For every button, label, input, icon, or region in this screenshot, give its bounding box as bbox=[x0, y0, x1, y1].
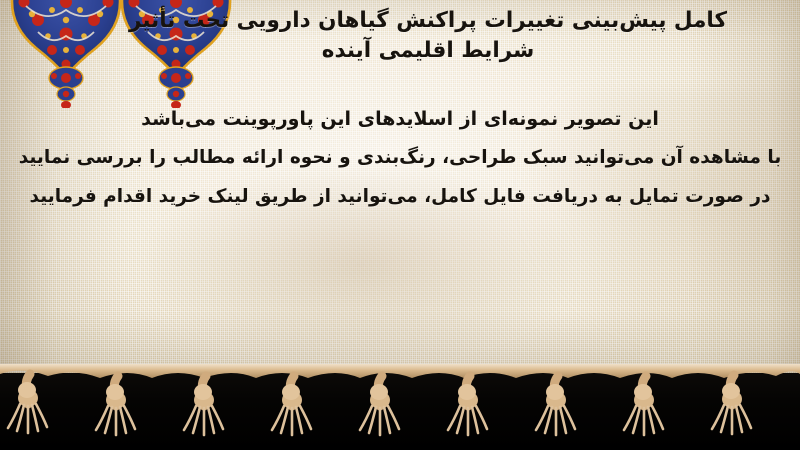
body-line-1: این تصویر نمونه‌ای از اسلایدهای این پاور… bbox=[0, 110, 800, 129]
slide-title-line-2: شرایط اقلیمی آینده bbox=[108, 36, 748, 67]
tassel-fringe-decoration bbox=[0, 360, 800, 450]
body-line-2: با مشاهده آن می‌توانید سبک طراحی، رنگ‌بن… bbox=[0, 149, 800, 168]
body-line-3: در صورت تمایل به دریافت فایل کامل، می‌تو… bbox=[0, 188, 800, 207]
slide-title-line-1: کامل پیش‌بینی تغییرات پراکنش گیاهان دارو… bbox=[108, 6, 748, 37]
slide-title: کامل پیش‌بینی تغییرات پراکنش گیاهان دارو… bbox=[108, 6, 748, 66]
presentation-slide: کامل پیش‌بینی تغییرات پراکنش گیاهان دارو… bbox=[0, 0, 800, 450]
persian-medallion-ornament-icon bbox=[8, 0, 124, 108]
slide-body-text: این تصویر نمونه‌ای از اسلایدهای این پاور… bbox=[0, 110, 800, 226]
